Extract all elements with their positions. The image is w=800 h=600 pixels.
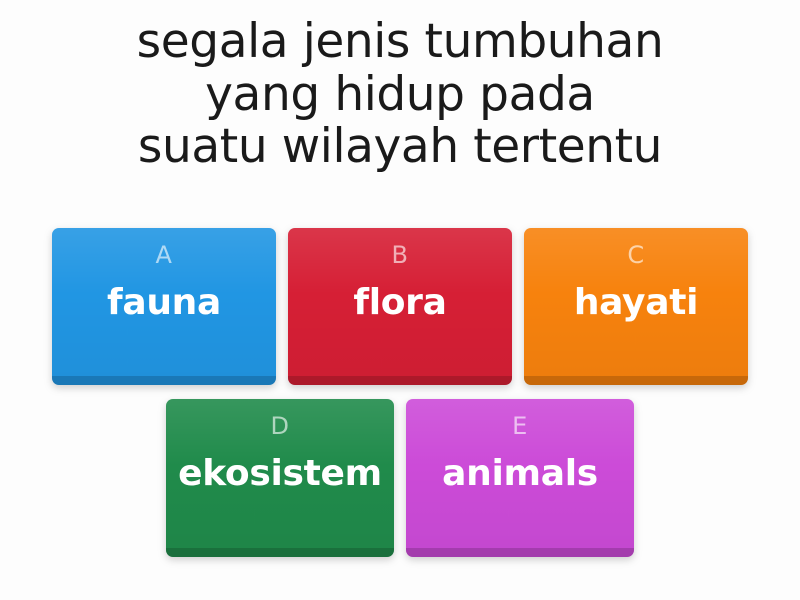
answer-letter-c: C — [627, 243, 644, 267]
question-area: segala jenis tumbuhan yang hidup pada su… — [50, 16, 750, 174]
answer-card-d[interactable]: D ekosistem — [166, 399, 394, 557]
answer-card-c[interactable]: C hayati — [524, 228, 748, 385]
quiz-screen: segala jenis tumbuhan yang hidup pada su… — [0, 0, 800, 600]
answer-letter-e: E — [512, 414, 528, 438]
answer-card-b[interactable]: B flora — [288, 228, 512, 385]
answer-row-1: A fauna B flora C hayati — [0, 228, 800, 385]
answer-card-e[interactable]: E animals — [406, 399, 634, 557]
answer-label-b: flora — [345, 284, 454, 322]
answer-options-grid: A fauna B flora C hayati D ekosistem E a… — [0, 228, 800, 557]
answer-letter-b: B — [392, 243, 409, 267]
question-text: segala jenis tumbuhan yang hidup pada su… — [50, 16, 750, 174]
answer-label-a: fauna — [99, 284, 229, 322]
answer-label-c: hayati — [566, 284, 706, 322]
answer-letter-a: A — [156, 243, 173, 267]
answer-row-2: D ekosistem E animals — [0, 399, 800, 557]
answer-letter-d: D — [271, 414, 290, 438]
answer-label-d: ekosistem — [170, 455, 390, 493]
answer-card-a[interactable]: A fauna — [52, 228, 276, 385]
answer-label-e: animals — [434, 455, 606, 493]
